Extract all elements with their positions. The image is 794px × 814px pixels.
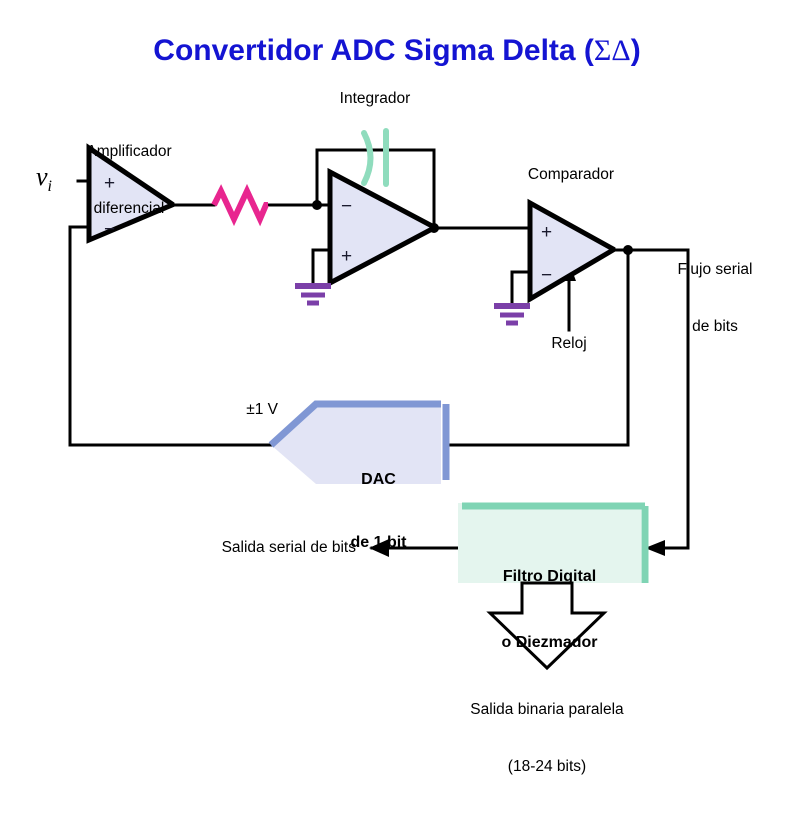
serial-output-label: Salida serial de bits [140, 538, 356, 557]
ground-comparator [494, 306, 530, 323]
dac-label: DAC de 1 bit [316, 427, 441, 595]
dac-label-line1: DAC [316, 469, 441, 490]
comparator-amplifier-minus: − [541, 265, 552, 286]
amplifier-label: Amplificador diferencial [44, 104, 214, 256]
integrator-label: Integrador [303, 89, 447, 108]
capacitor-curved-plate [364, 133, 371, 183]
clock-label: Reloj [521, 334, 617, 353]
diagram-canvas: Convertidor ADC Sigma Delta (ΣΔ) [0, 0, 794, 746]
integrator-amplifier-plus: + [341, 246, 352, 267]
wire-integrator-plus-ground [313, 250, 330, 285]
digital-filter-line2: o Diezmador [462, 632, 637, 654]
serial-stream-line1: Flujo serial [660, 260, 770, 279]
integrator-amplifier-minus: − [341, 196, 352, 217]
digital-filter-line1: Filtro Digital [462, 566, 637, 588]
resistor-symbol [214, 191, 268, 219]
parallel-output-line2: (18-24 bits) [427, 757, 667, 776]
parallel-output-line1: Salida binaria paralela [427, 700, 667, 719]
amplifier-label-line2: diferencial [44, 199, 214, 218]
junction-integrator-input [312, 200, 322, 210]
comparator-label: Comparador [499, 165, 643, 184]
ground-integrator [295, 286, 331, 303]
ground-symbols [295, 286, 530, 323]
junction-comparator-output [623, 245, 633, 255]
comparator-amplifier[interactable]: + − [530, 203, 613, 299]
parallel-output-label: Salida binaria paralela (18-24 bits) [427, 662, 667, 814]
integrator-amplifier[interactable]: − + [330, 172, 434, 283]
dac-voltage-label: ±1 V [178, 400, 278, 419]
comparator-amplifier-plus: + [541, 222, 552, 243]
capacitor-symbol [364, 131, 386, 184]
serial-stream-line2: de bits [660, 317, 770, 336]
amplifier-label-line1: Amplificador [44, 142, 214, 161]
serial-stream-label: Flujo serial de bits [660, 222, 770, 374]
wire-comparator-minus-ground [512, 272, 530, 305]
